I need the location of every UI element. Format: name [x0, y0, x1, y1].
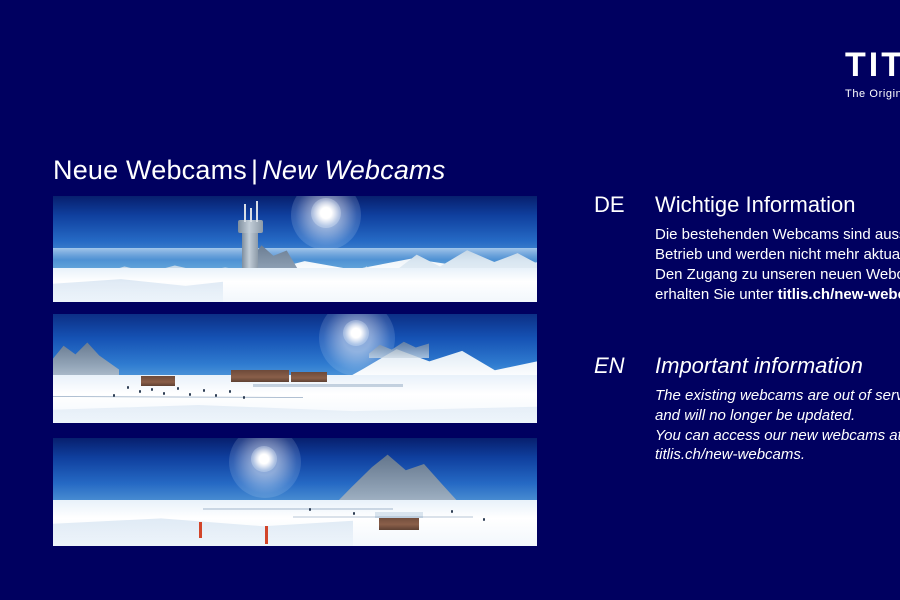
info-block-en: EN Important information The existing we… — [594, 353, 900, 466]
webcam-url-link-de[interactable]: titlis.ch/new-webcams — [778, 286, 900, 303]
piste-track — [253, 384, 403, 387]
info-block-de: DE Wichtige Information Die bestehenden … — [594, 192, 900, 305]
info-line: Die bestehenden Webcams sind ausser — [655, 225, 900, 245]
page-title: Neue Webcams|New Webcams — [53, 155, 445, 186]
chalet — [379, 516, 419, 530]
skier-dot — [215, 394, 217, 397]
info-heading-de: Wichtige Information — [655, 192, 856, 218]
mountain-restaurant — [231, 370, 289, 382]
webcam-url-link-en[interactable]: titlis.ch/new-webcams. — [655, 445, 900, 465]
panorama-scene — [53, 314, 537, 423]
hut-small — [141, 376, 175, 386]
skier-dot — [229, 390, 231, 393]
webcam-panorama-trubsee[interactable] — [53, 438, 537, 546]
info-heading-en: Important information — [655, 353, 863, 379]
piste-marker — [265, 526, 268, 544]
info-line: You can access our new webcams at — [655, 426, 900, 446]
information-column: DE Wichtige Information Die bestehenden … — [594, 192, 900, 465]
antenna-mast-right — [256, 201, 258, 222]
skier-dot — [127, 386, 129, 389]
logo-tagline: The Original — [845, 88, 900, 100]
skier-dot — [163, 392, 165, 395]
info-body-de: Die bestehenden Webcams sind ausser Betr… — [655, 225, 900, 305]
info-heading-row-de: DE Wichtige Information — [594, 192, 900, 218]
info-line: Den Zugang zu unseren neuen Webcams — [655, 265, 900, 285]
webcam-panorama-summit[interactable] — [53, 196, 537, 302]
skier-dot — [309, 508, 311, 511]
piste-track — [293, 516, 473, 518]
skier-dot — [189, 393, 191, 396]
page-title-separator: | — [247, 155, 262, 185]
info-line-link: erhalten Sie unter titlis.ch/new-webcams — [655, 285, 900, 305]
titlis-logo: TITLIS The Original — [845, 48, 900, 100]
info-line: Betrieb und werden nicht mehr aktualisie… — [655, 245, 900, 265]
skier-dot — [243, 396, 245, 399]
panorama-scene — [53, 438, 537, 546]
info-line: The existing webcams are out of service — [655, 386, 900, 406]
info-line-prefix: erhalten Sie unter — [655, 286, 778, 303]
antenna-mast-center — [250, 208, 252, 222]
logo-wordmark: TITLIS — [845, 48, 900, 82]
page-title-de: Neue Webcams — [53, 155, 247, 185]
language-tag-en: EN — [594, 353, 655, 379]
skier-dot — [451, 510, 453, 513]
skier-dot — [177, 387, 179, 390]
info-line: and will no longer be updated. — [655, 406, 900, 426]
skier-dot — [203, 389, 205, 392]
skier-dot — [353, 512, 355, 515]
skier-dot — [151, 388, 153, 391]
language-tag-de: DE — [594, 192, 655, 218]
piste-marker — [199, 522, 202, 538]
skier-dot — [139, 390, 141, 393]
panorama-scene — [53, 196, 537, 302]
skier-dot — [113, 394, 115, 397]
skier-dot — [483, 518, 485, 521]
slide-root: TITLIS The Original Neue Webcams|New Web… — [0, 0, 900, 600]
antenna-mast-left — [244, 204, 246, 222]
webcam-panorama-stand[interactable] — [53, 314, 537, 423]
station-building — [291, 372, 327, 382]
piste-track — [203, 508, 393, 510]
info-heading-row-en: EN Important information — [594, 353, 900, 379]
info-body-en: The existing webcams are out of service … — [655, 386, 900, 466]
page-title-en: New Webcams — [262, 155, 445, 185]
